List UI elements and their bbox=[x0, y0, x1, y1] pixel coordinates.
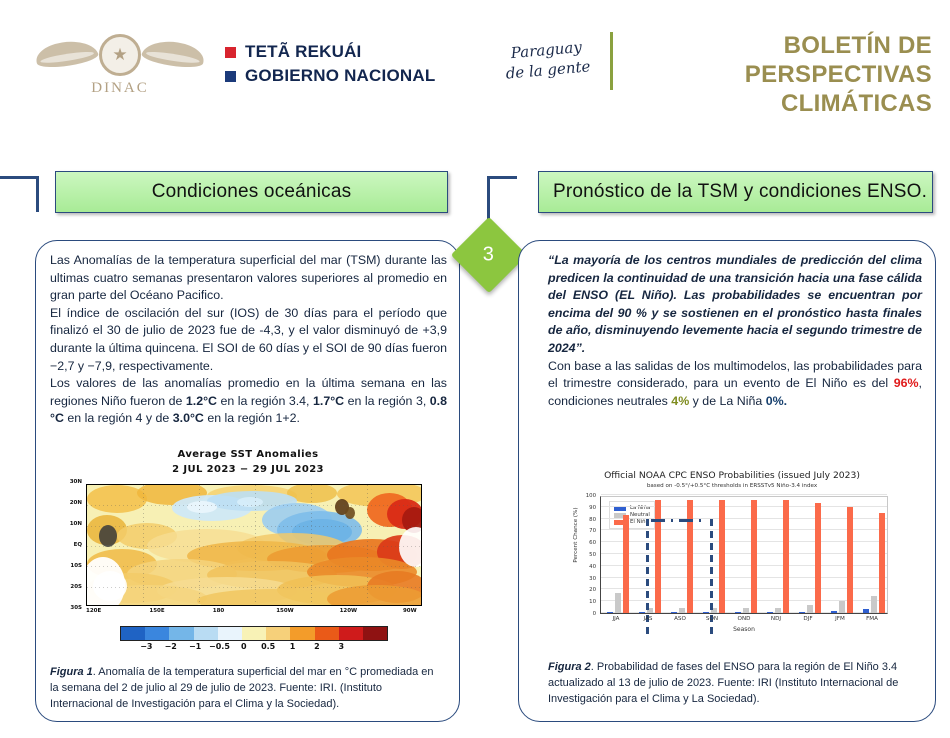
nino3-value: 1.7°C bbox=[313, 394, 344, 408]
enso-bar bbox=[671, 612, 678, 613]
sst-map bbox=[86, 484, 422, 606]
sst-xtick: 150E bbox=[149, 608, 164, 614]
enso-probability-chart: Official NOAA CPC ENSO Probabilities (is… bbox=[562, 470, 902, 650]
left-paragraph-2: El índice de oscilación del sur (IOS) de… bbox=[50, 305, 447, 375]
government-logo: TETÃ REKUÁI GOBIERNO NACIONAL bbox=[225, 42, 435, 90]
colorbar-tick: −2 bbox=[159, 642, 183, 651]
colorbar-segment bbox=[266, 627, 290, 640]
enso-ytick: 0 bbox=[593, 611, 596, 617]
enso-xtick: NDJ bbox=[760, 616, 792, 622]
enso-bar bbox=[807, 605, 814, 613]
colorbar-segment bbox=[145, 627, 169, 640]
sst-ytick: 20S bbox=[70, 584, 82, 590]
left-figure-caption: Figura 1. Anomalía de la temperatura sup… bbox=[50, 665, 442, 713]
enso-bar bbox=[871, 596, 878, 613]
enso-bar-group bbox=[793, 497, 825, 613]
colorbar-tick: −0.5 bbox=[207, 642, 231, 651]
sst-xtick: 120E bbox=[86, 608, 101, 614]
sst-figure-subtitle: 2 JUL 2023 − 29 JUL 2023 bbox=[58, 463, 438, 478]
colorbar-segment bbox=[169, 627, 193, 640]
enso-bar-group bbox=[857, 497, 889, 613]
sst-ytick: 10S bbox=[70, 563, 82, 569]
enso-xtick: FMA bbox=[856, 616, 888, 622]
left-paragraph-1: Las Anomalías de la temperatura superfic… bbox=[50, 252, 447, 305]
figure-2-text: . Probabilidad de fases del ENSO para la… bbox=[548, 661, 898, 705]
sst-anomaly-blob bbox=[99, 525, 117, 547]
sst-xtick: 120W bbox=[340, 608, 358, 614]
sst-colorbar bbox=[120, 626, 388, 641]
right-paragraph: Con base a las salidas de los multimodel… bbox=[548, 358, 922, 411]
sst-y-axis-labels: 30N20N10NEQ10S20S30S bbox=[58, 482, 84, 608]
colorbar-segment bbox=[242, 627, 266, 640]
enso-bar bbox=[743, 608, 750, 613]
colorbar-tick: 0.5 bbox=[256, 642, 280, 651]
left-bracket-top bbox=[0, 176, 38, 179]
right-figure-caption: Figura 2. Probabilidad de fases del ENSO… bbox=[548, 660, 918, 708]
enso-xtick: JAS bbox=[632, 616, 664, 622]
enso-ytick: 80 bbox=[589, 517, 596, 523]
page-number-badge: 3 bbox=[451, 217, 527, 293]
page-number: 3 bbox=[483, 244, 494, 267]
enso-bar bbox=[863, 609, 870, 613]
enso-bar bbox=[679, 608, 686, 613]
right-panel-body: “La mayoría de los centros mundiales de … bbox=[548, 252, 922, 410]
gov-line-1: TETÃ REKUÁI bbox=[225, 42, 435, 62]
sst-anomaly-blob bbox=[327, 585, 422, 606]
enso-ytick: 100 bbox=[586, 493, 596, 499]
sst-anomaly-figure: Average SST Anomalies 2 JUL 2023 − 29 JU… bbox=[58, 448, 438, 660]
enso-bar bbox=[615, 593, 622, 613]
enso-xtick: JJA bbox=[600, 616, 632, 622]
left-panel-body: Las Anomalías de la temperatura superfic… bbox=[50, 252, 447, 428]
enso-xtick: OND bbox=[728, 616, 760, 622]
dinac-logo: ★ DINAC bbox=[30, 30, 210, 100]
colorbar-tick: 0 bbox=[232, 642, 256, 651]
map-gridline bbox=[87, 505, 421, 506]
map-gridline bbox=[87, 546, 421, 547]
gov-label-teta-rekuai: TETÃ REKUÁI bbox=[245, 42, 361, 62]
enso-bar-group bbox=[601, 497, 633, 613]
colorbar-segment bbox=[339, 627, 363, 640]
enso-bar bbox=[655, 500, 662, 613]
elnino-probability: 96% bbox=[894, 376, 919, 390]
colorbar-segment bbox=[194, 627, 218, 640]
enso-ytick: 10 bbox=[589, 599, 596, 605]
left-paragraph-3: Los valores de las anomalías promedio en… bbox=[50, 375, 447, 428]
colorbar-segment bbox=[315, 627, 339, 640]
sst-map-canvas bbox=[87, 485, 421, 605]
enso-bar-group bbox=[729, 497, 761, 613]
sst-anomaly-blob bbox=[197, 589, 347, 606]
enso-bar-group bbox=[761, 497, 793, 613]
figure-2-label: Figura 2 bbox=[548, 661, 591, 673]
enso-bar bbox=[879, 513, 886, 613]
enso-bar bbox=[815, 503, 822, 613]
enso-ytick: 70 bbox=[589, 528, 596, 534]
colorbar-segment bbox=[290, 627, 314, 640]
enso-bar bbox=[735, 612, 742, 613]
wings-emblem-icon: ★ bbox=[35, 34, 205, 76]
figure-1-text: . Anomalía de la temperatura superficial… bbox=[50, 666, 434, 710]
map-gridline bbox=[87, 566, 421, 567]
blue-square-icon bbox=[225, 71, 236, 82]
gov-line-2: GOBIERNO NACIONAL bbox=[225, 66, 435, 86]
page-header: ★ DINAC TETÃ REKUÁI GOBIERNO NACIONAL Pa… bbox=[0, 0, 950, 140]
enso-bar bbox=[623, 515, 630, 613]
sst-figure-title: Average SST Anomalies bbox=[58, 448, 438, 463]
enso-quote: “La mayoría de los centros mundiales de … bbox=[548, 252, 922, 358]
rp-part3: y de La Niña bbox=[689, 394, 765, 408]
sst-ytick: 10N bbox=[70, 521, 82, 527]
enso-bar bbox=[639, 612, 646, 613]
sst-anomaly-blob bbox=[187, 501, 217, 513]
paraguay-de-la-gente-logo: Paraguay de la gente bbox=[492, 36, 602, 98]
sst-colorbar-labels: −3−2−1−0.500.5123 bbox=[108, 642, 408, 654]
sst-ytick: 20N bbox=[70, 500, 82, 506]
p3-part5: en la región 1+2. bbox=[204, 411, 300, 425]
neutral-probability: 4% bbox=[671, 394, 689, 408]
enso-ytick: 60 bbox=[589, 540, 596, 546]
lanina-probability: 0%. bbox=[766, 394, 787, 408]
enso-y-axis-labels: 0102030405060708090100 bbox=[570, 490, 598, 620]
enso-bar bbox=[719, 500, 726, 613]
sst-xtick: 150W bbox=[276, 608, 294, 614]
left-panel-title: Condiciones oceánicas bbox=[55, 171, 448, 213]
enso-xtick: DJF bbox=[792, 616, 824, 622]
colorbar-segment bbox=[121, 627, 145, 640]
right-panel-title: Pronóstico de la TSM y condiciones ENSO. bbox=[538, 171, 933, 213]
colorbar-tick: −3 bbox=[134, 642, 158, 651]
sst-ytick: EQ bbox=[74, 542, 82, 548]
p3-part2: en la región 3.4, bbox=[217, 394, 313, 408]
enso-bar bbox=[703, 612, 710, 613]
star-icon: ★ bbox=[112, 46, 127, 63]
red-square-icon bbox=[225, 47, 236, 58]
enso-xtick: JFM bbox=[824, 616, 856, 622]
sst-ytick: 30N bbox=[70, 479, 82, 485]
gov-label-gobierno-nacional: GOBIERNO NACIONAL bbox=[245, 66, 435, 86]
enso-bar bbox=[847, 507, 854, 613]
p3-part4: en la región 4 y de bbox=[64, 411, 173, 425]
colorbar-tick: 1 bbox=[281, 642, 305, 651]
rp-part1: Con base a las salidas de los multimodel… bbox=[548, 359, 922, 391]
sst-x-axis-labels: 120E150E180150W120W90W bbox=[80, 608, 430, 620]
enso-ytick: 40 bbox=[589, 564, 596, 570]
colorbar-segment bbox=[218, 627, 242, 640]
enso-bar bbox=[767, 612, 774, 613]
enso-annotation-bracket bbox=[679, 519, 701, 522]
p3-part3: en la región 3, bbox=[344, 394, 430, 408]
enso-bar bbox=[607, 612, 614, 613]
enso-ytick: 20 bbox=[589, 587, 596, 593]
enso-gridline bbox=[601, 494, 887, 495]
colorbar-segment bbox=[363, 627, 387, 640]
enso-chart-title: Official NOAA CPC ENSO Probabilities (is… bbox=[562, 470, 902, 481]
page-title: BOLETÍN DE PERSPECTIVAS CLIMÁTICAS bbox=[602, 32, 932, 118]
paraguay-script-text: Paraguay de la gente bbox=[490, 31, 603, 85]
enso-plot-area: La NiñaNeutralEl Niño bbox=[600, 496, 888, 614]
colorbar-tick: −1 bbox=[183, 642, 207, 651]
enso-bar bbox=[751, 500, 758, 613]
map-gridline bbox=[87, 587, 421, 588]
enso-bar bbox=[799, 612, 806, 613]
map-gridline bbox=[87, 526, 421, 527]
sst-xtick: 90W bbox=[403, 608, 417, 614]
enso-bar bbox=[839, 601, 846, 613]
dinac-label: DINAC bbox=[91, 80, 149, 97]
enso-xtick: ASO bbox=[664, 616, 696, 622]
center-bracket-top bbox=[487, 176, 517, 179]
enso-ytick: 90 bbox=[589, 505, 596, 511]
enso-annotation-bracket bbox=[651, 519, 673, 522]
enso-chart-subtitle: based on -0.5°/+0.5°C thresholds in ERSS… bbox=[562, 483, 902, 489]
enso-ytick: 50 bbox=[589, 552, 596, 558]
enso-bar bbox=[775, 608, 782, 613]
sst-xtick: 180 bbox=[213, 608, 224, 614]
colorbar-tick: 2 bbox=[305, 642, 329, 651]
enso-x-axis-title: Season bbox=[600, 626, 888, 633]
figure-1-label: Figura 1 bbox=[50, 666, 93, 678]
enso-bar bbox=[831, 611, 838, 613]
sst-anomaly-blob bbox=[345, 507, 355, 519]
colorbar-tick: 3 bbox=[329, 642, 353, 651]
nino34-value: 1.2°C bbox=[186, 394, 217, 408]
enso-bar-group bbox=[665, 497, 697, 613]
left-bracket-vertical bbox=[36, 176, 39, 212]
enso-bar bbox=[783, 500, 790, 613]
enso-bar bbox=[687, 500, 694, 613]
nino12-value: 3.0°C bbox=[173, 411, 204, 425]
enso-ytick: 30 bbox=[589, 576, 596, 582]
enso-xtick: SON bbox=[696, 616, 728, 622]
enso-bar-group bbox=[825, 497, 857, 613]
